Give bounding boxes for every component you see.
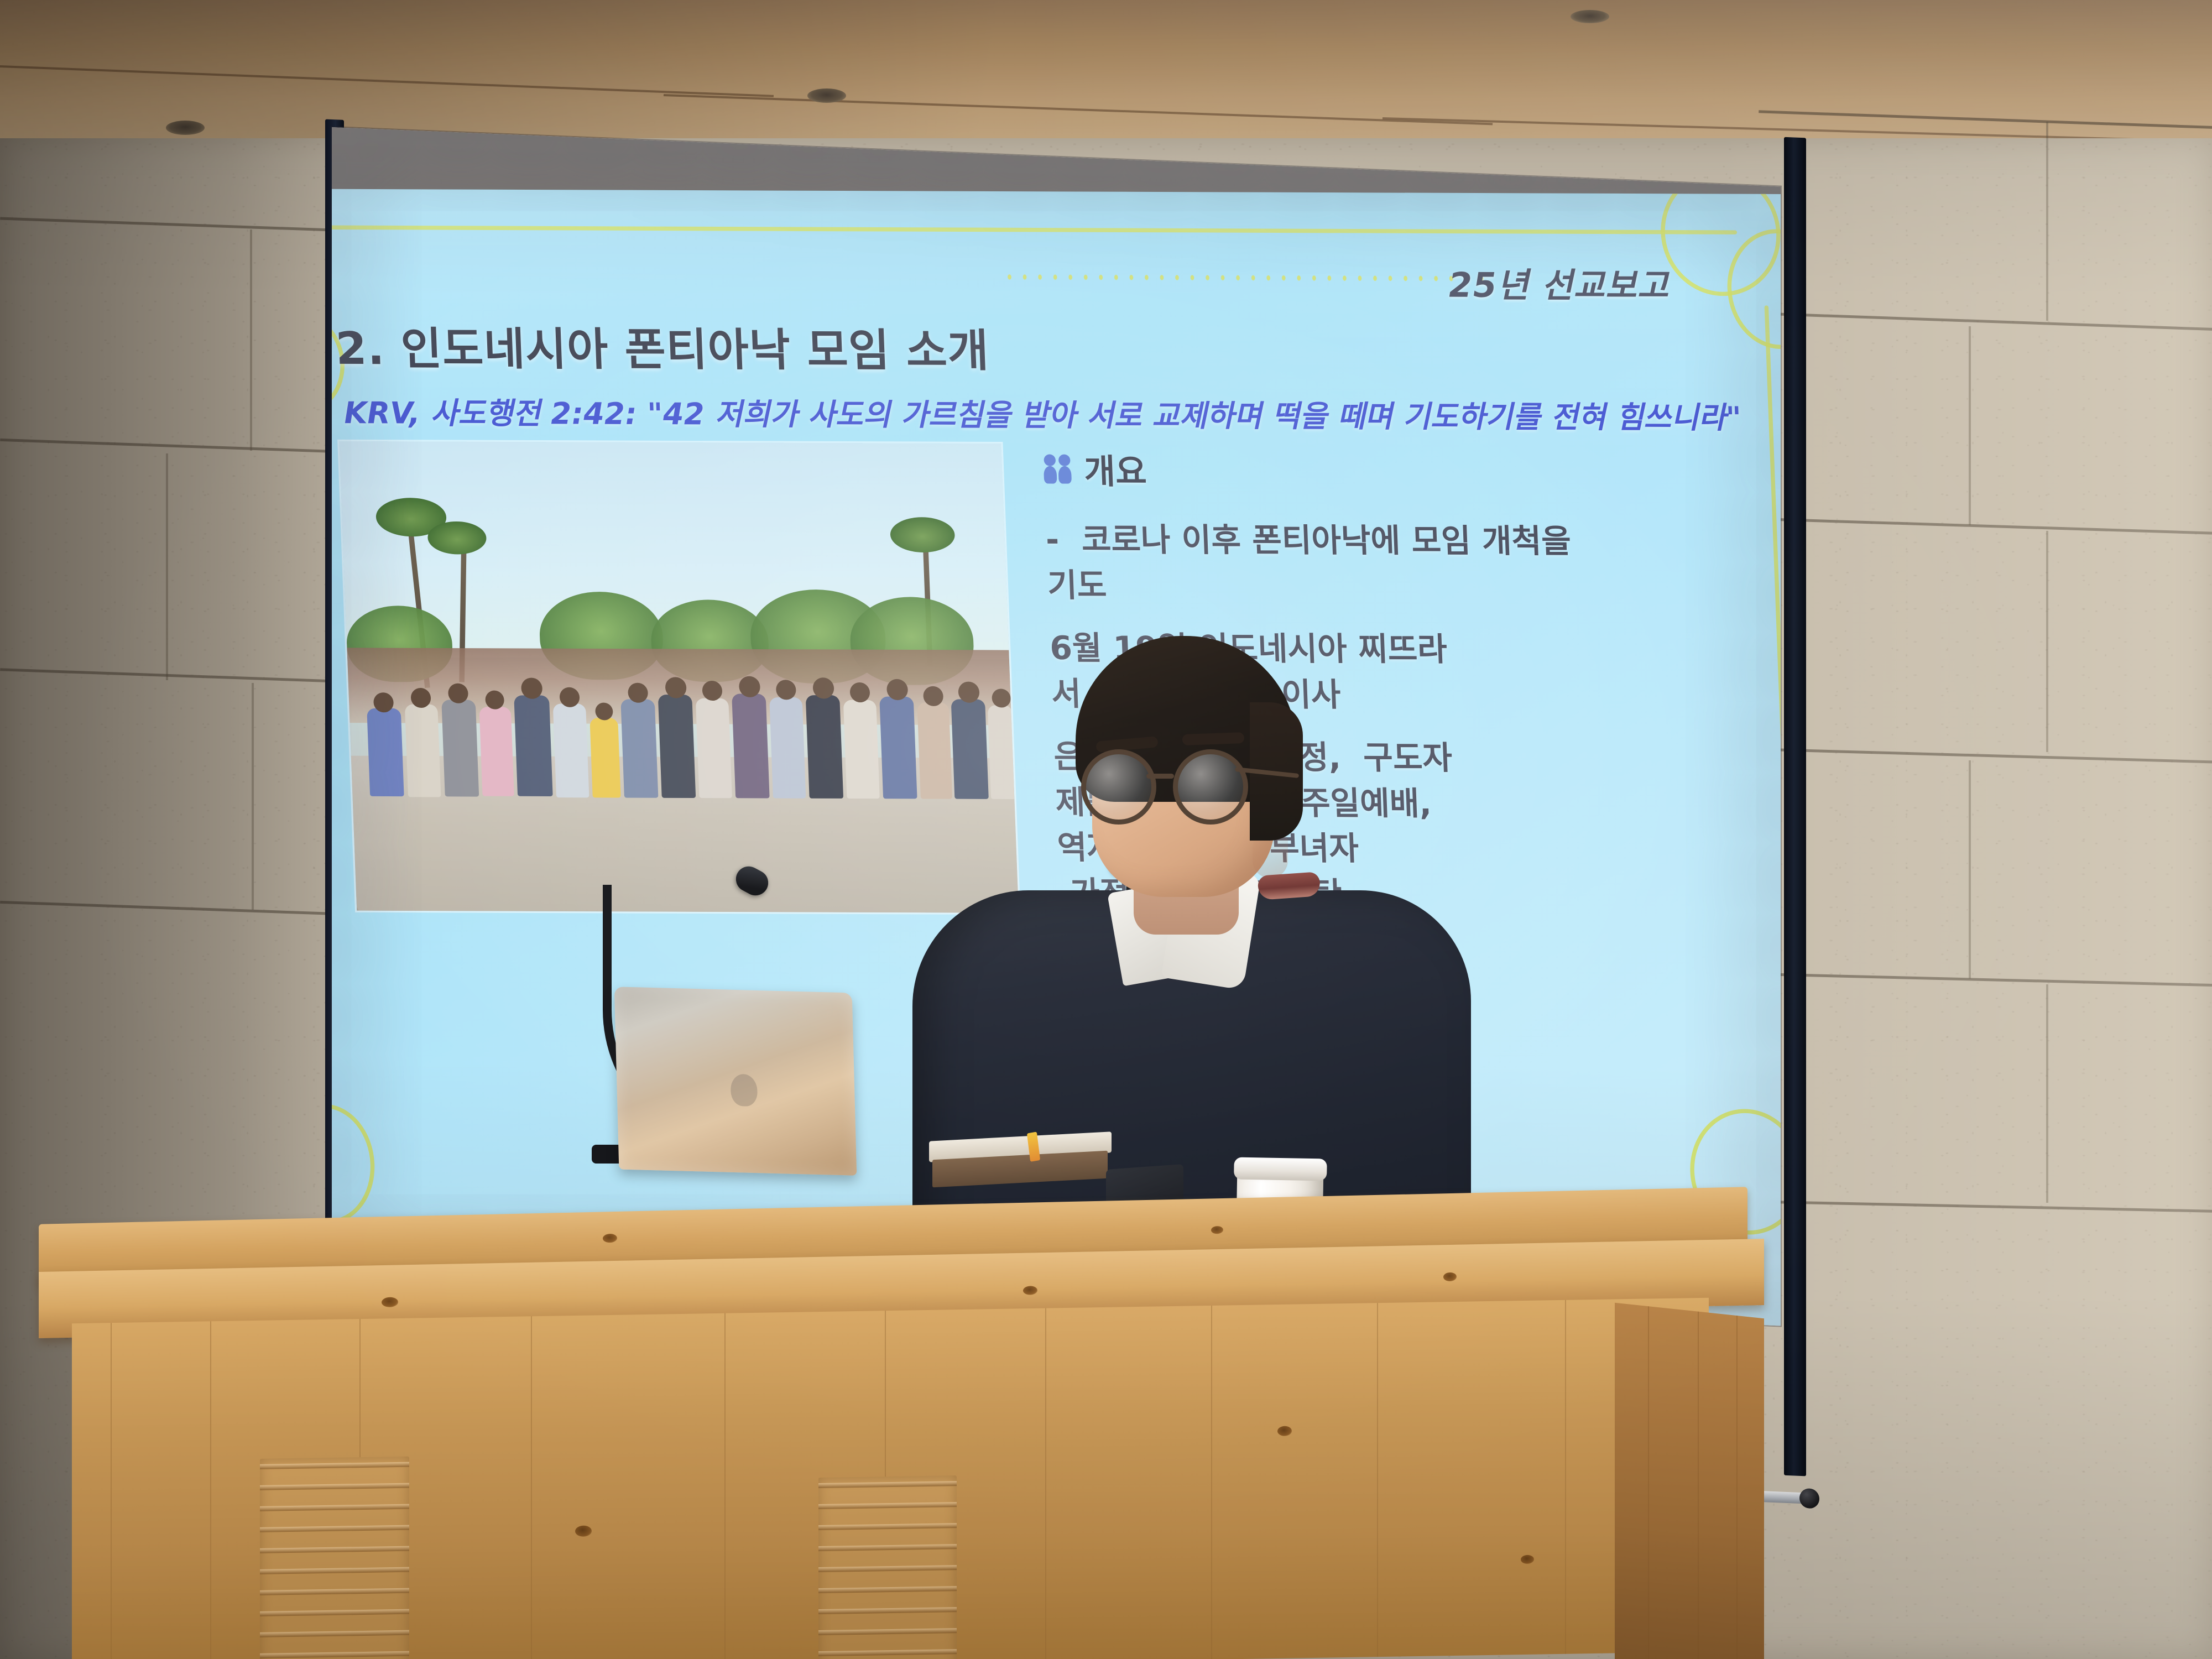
slide-verse: KRV, 사도행전 2:42: "42 저희가 사도의 가르침을 받아 서로 교… [343,389,1762,437]
ceiling-downlight [166,121,205,135]
section-heading: 개요 [1042,444,1781,495]
podium-side-panel [1615,1303,1764,1659]
people-icon [1042,453,1074,483]
ceiling-downlight [807,88,846,103]
bullet-line: 기도 [1047,564,1781,609]
laptop[interactable] [614,987,857,1176]
glasses-lens [1081,749,1156,825]
podium-louver-vent [818,1475,957,1659]
photo-scene: 25년 선교보고 2. 인도네시아 폰티아낙 모임 소개 KRV, 사도행전 2… [0,0,2212,1659]
screen-bar-cap [1799,1488,1819,1509]
bullet-line: - 코로나 이후 폰티아낙에 모임 개척을 [1045,519,1781,564]
glasses [1081,749,1280,816]
podium-louver-vent [260,1457,409,1659]
screen-right-edge [1784,137,1806,1477]
slide-kicker: 25년 선교보고 [1448,258,1670,308]
ceiling-downlight [1571,10,1609,23]
group-photo [339,441,1019,913]
doodle-line [332,225,1737,234]
glasses-lens [1173,749,1248,825]
slide-title: 2. 인도네시아 폰티아낙 모임 소개 [335,312,990,379]
dotted-divider [1006,272,1493,283]
section-heading-label: 개요 [1083,444,1147,494]
podium-front-panel [72,1298,1709,1659]
wooden-podium [39,1172,1764,1659]
